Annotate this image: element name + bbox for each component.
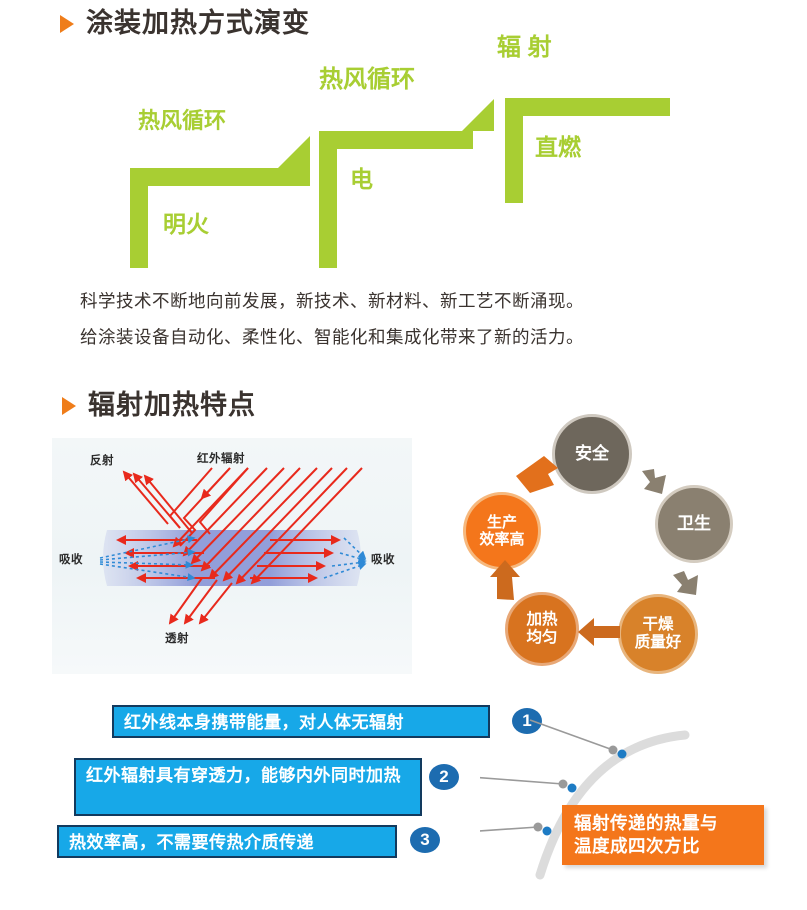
staircase-step-3 [505,98,670,203]
staircase-step-1 [130,168,310,268]
step-2-vertical-bar [319,131,337,268]
step-2-horizontal-bar [319,131,473,149]
step-1-top-label: 热风循环 [138,110,226,132]
paragraph-line-1: 科学技术不断地向前发展，新技术、新材料、新工艺不断涌现。 [80,288,760,314]
step-3-horizontal-bar [505,98,670,116]
cycle-arrow-productivity-to-safety [514,454,560,496]
cycle-node-uniform-heating-line2: 均匀 [526,629,557,647]
cycle-node-productivity-line2: 效率高 [479,531,524,548]
triangle-bullet-icon [60,15,74,33]
arc-svg [480,700,807,905]
step-2-arrow-icon [462,99,494,131]
highlight-line-1: 辐射传递的热量与 [574,812,754,835]
cycle-node-productivity-line1: 生产 [487,514,517,531]
step-3-top-label: 辐 射 [497,36,552,60]
ir-label-incident: 红外辐射 [197,450,245,466]
cycle-node-safety-label: 安全 [575,444,609,464]
ir-label-absorb-left: 吸收 [59,551,83,567]
intro-paragraph: 科学技术不断地向前发展，新技术、新材料、新工艺不断涌现。 给涂装设备自动化、柔性… [80,288,760,361]
staircase-step-2 [319,131,473,268]
callout-box-2[interactable]: 红外辐射具有穿透力，能够内外同时加热 [74,758,422,816]
ir-label-transmit: 透射 [165,630,189,646]
paragraph-line-2: 给涂装设备自动化、柔性化、智能化和集成化带来了新的活力。 [80,324,760,350]
cycle-node-dry-quality-line2: 质量好 [635,634,682,652]
step-1-inner-label: 明火 [163,213,209,236]
callout-box-1[interactable]: 红外线本身携带能量，对人体无辐射 [112,705,490,738]
cycle-node-uniform-heating[interactable]: 加热 均匀 [505,592,579,666]
step-1-horizontal-bar [130,168,310,186]
step-1-vertical-bar [130,168,148,268]
cycle-arrow-uniform-to-productivity [488,558,524,602]
callout-box-3[interactable]: 热效率高，不需要传热介质传递 [57,825,397,858]
section-heading-1: 涂装加热方式演变 [60,10,310,37]
ir-label-absorb-right: 吸收 [371,551,395,567]
staircase-diagram: 热风循环 明火 热风循环 电 辐 射 直燃 [0,38,807,268]
page-title: 涂装加热方式演变 [86,10,310,37]
ir-label-reflect: 反射 [90,452,114,468]
step-2-inner-label: 电 [350,168,373,191]
step-2-top-label: 热风循环 [319,68,415,92]
cycle-node-uniform-heating-line1: 加热 [526,611,557,629]
highlight-callout-box[interactable]: 辐射传递的热量与 温度成四次方比 [562,805,764,865]
callout-arc-graphic [480,700,807,905]
cycle-arrow-safety-to-hygiene [638,467,678,507]
callout-number-2: 2 [429,764,459,790]
cycle-arrow-dry-to-uniform [576,615,622,649]
step-3-inner-label: 直燃 [535,136,581,159]
step-1-arrow-icon [278,136,310,168]
cycle-node-hygiene-label: 卫生 [677,514,711,534]
infrared-figure-svg [52,438,412,674]
benefits-cycle-diagram: 安全 卫生 干燥 质量好 加热 均匀 生产 效率高 [452,412,752,692]
callout-number-3: 3 [410,827,440,853]
triangle-bullet-icon-2 [62,397,76,415]
infrared-radiation-figure: 反射 红外辐射 吸收 吸收 透射 [52,438,412,674]
cycle-node-safety[interactable]: 安全 [552,414,632,494]
section-2-title: 辐射加热特点 [88,392,256,419]
section-heading-2: 辐射加热特点 [62,392,256,419]
cycle-arrow-hygiene-to-dry [671,569,711,609]
step-3-vertical-bar [505,98,523,203]
highlight-line-2: 温度成四次方比 [574,835,754,858]
cycle-node-dry-quality-line1: 干燥 [642,616,673,634]
